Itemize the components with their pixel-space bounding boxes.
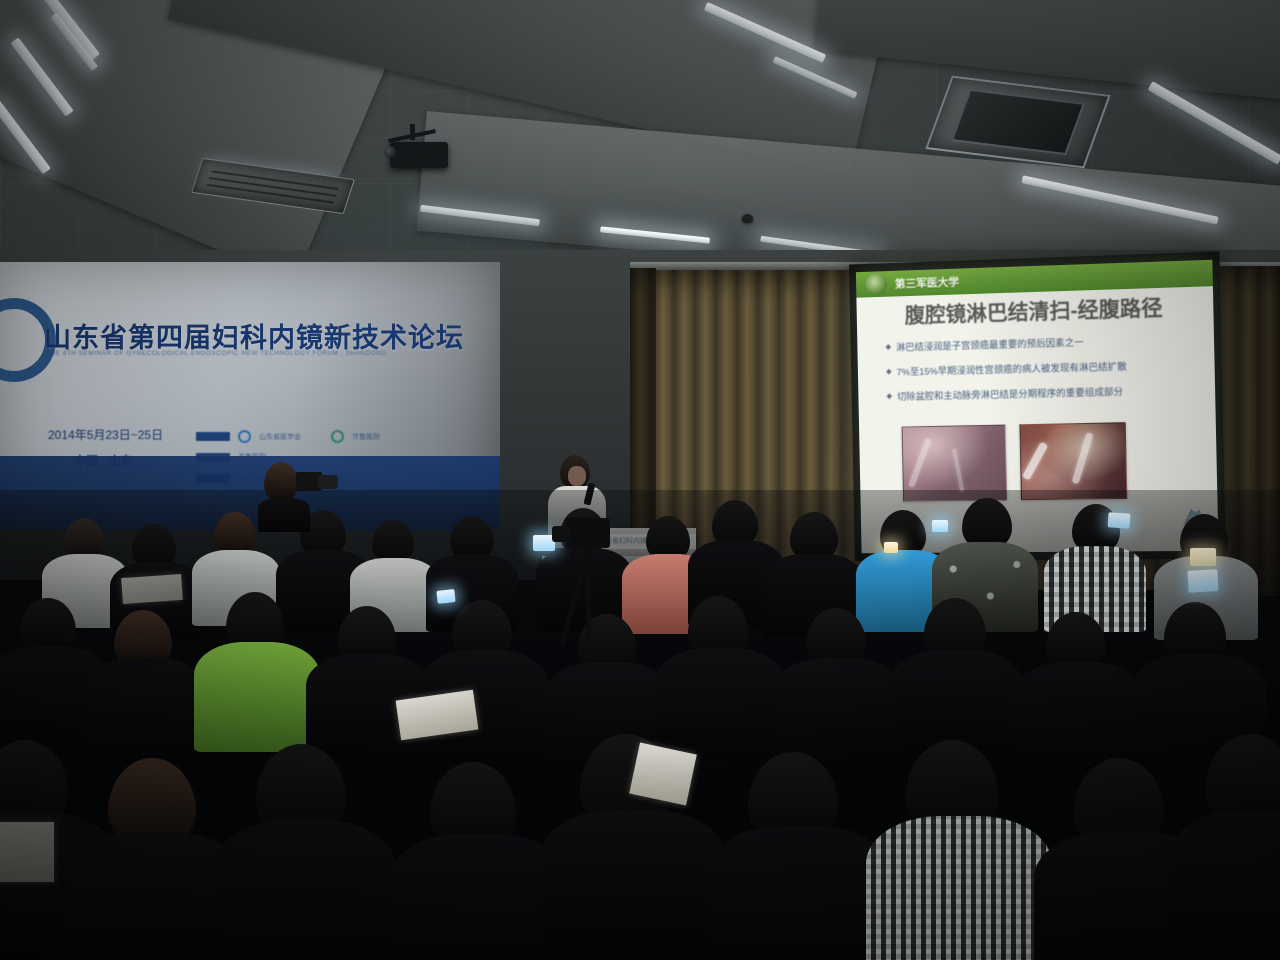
audience-body xyxy=(214,820,396,960)
ceiling-projector xyxy=(378,124,456,176)
audience xyxy=(0,490,1280,960)
audience-body xyxy=(866,816,1052,960)
sponsor-name: 山东省医学会 xyxy=(259,432,301,442)
speaker-face xyxy=(568,466,586,486)
bullet-text: 淋巴结浸润是子宫颈癌最重要的预后因素之一 xyxy=(896,335,1084,354)
ceiling-speaker-icon xyxy=(742,214,753,223)
audience-phone-screen[interactable] xyxy=(884,542,898,553)
slide-bullet: 切除盆腔和主动脉旁淋巴结是分期程序的重要组成部分 xyxy=(887,382,1201,403)
ceiling xyxy=(0,0,1280,290)
slide-organization: 第三军医大学 xyxy=(895,274,960,292)
slide-bullet-list: 淋巴结浸润是子宫颈癌最重要的预后因素之一 7%至15%早期浸润性宫颈癌的病人被发… xyxy=(886,331,1201,414)
video-camera-lens xyxy=(552,526,570,542)
audience-body xyxy=(84,658,206,762)
audience-tablet-screen[interactable] xyxy=(1187,569,1218,593)
sponsor-row-1: 山东省医学会 齐鲁医院 xyxy=(196,430,380,443)
banner-subtitle: THE 4TH SEMINAR OF GYNECOLOGICAL ENDOSCO… xyxy=(46,350,387,357)
banner-date: 2014年5月23日~25日 xyxy=(48,426,163,443)
dslr-lens-icon xyxy=(318,475,338,489)
sponsor-mark-icon xyxy=(238,430,251,443)
sponsor-name-extra: 齐鲁医院 xyxy=(352,432,380,442)
university-logo-icon xyxy=(866,273,888,295)
audience-body xyxy=(774,658,902,766)
audience-phone-screen[interactable] xyxy=(1108,512,1131,528)
audience-body xyxy=(540,810,726,960)
slide-bullet: 7%至15%早期浸润性宫颈癌的病人被发现有淋巴结扩散 xyxy=(887,357,1201,379)
audience-body xyxy=(1170,810,1280,960)
tripod-leg xyxy=(586,548,591,658)
audience-phone-screen[interactable] xyxy=(1190,548,1216,566)
slide-image-right xyxy=(1019,422,1127,500)
audience-body xyxy=(194,642,320,752)
audience-body xyxy=(1014,662,1142,768)
audience-body xyxy=(708,826,890,960)
photographer xyxy=(258,458,346,530)
bullet-marker-icon xyxy=(887,393,892,399)
bullet-text: 7%至15%早期浸润性宫颈癌的病人被发现有淋巴结扩散 xyxy=(896,359,1127,379)
audience-paper xyxy=(121,574,183,604)
sponsor-tag-icon xyxy=(196,432,230,441)
bullet-marker-icon xyxy=(886,369,891,375)
slide-title: 腹腔镜淋巴结清扫-经腹路径 xyxy=(856,290,1213,331)
photographer-head xyxy=(264,462,298,502)
bullet-marker-icon xyxy=(886,344,891,350)
audience-phone-screen[interactable] xyxy=(932,520,948,532)
conference-photo: 山东省第四届妇科内镜新技术论坛 THE 4TH SEMINAR OF GYNEC… xyxy=(0,0,1280,960)
audience-phone-screen[interactable] xyxy=(436,589,455,604)
audience-body xyxy=(656,648,784,760)
audience-paper xyxy=(0,822,54,882)
bullet-text: 切除盆腔和主动脉旁淋巴结是分期程序的重要组成部分 xyxy=(897,384,1123,403)
video-camera-rig xyxy=(552,518,622,668)
photographer-body xyxy=(258,498,310,532)
sponsor-mark-icon-2 xyxy=(331,430,344,443)
video-camera-body xyxy=(566,518,610,548)
slide-bullet: 淋巴结浸润是子宫颈癌最重要的预后因素之一 xyxy=(886,331,1200,354)
